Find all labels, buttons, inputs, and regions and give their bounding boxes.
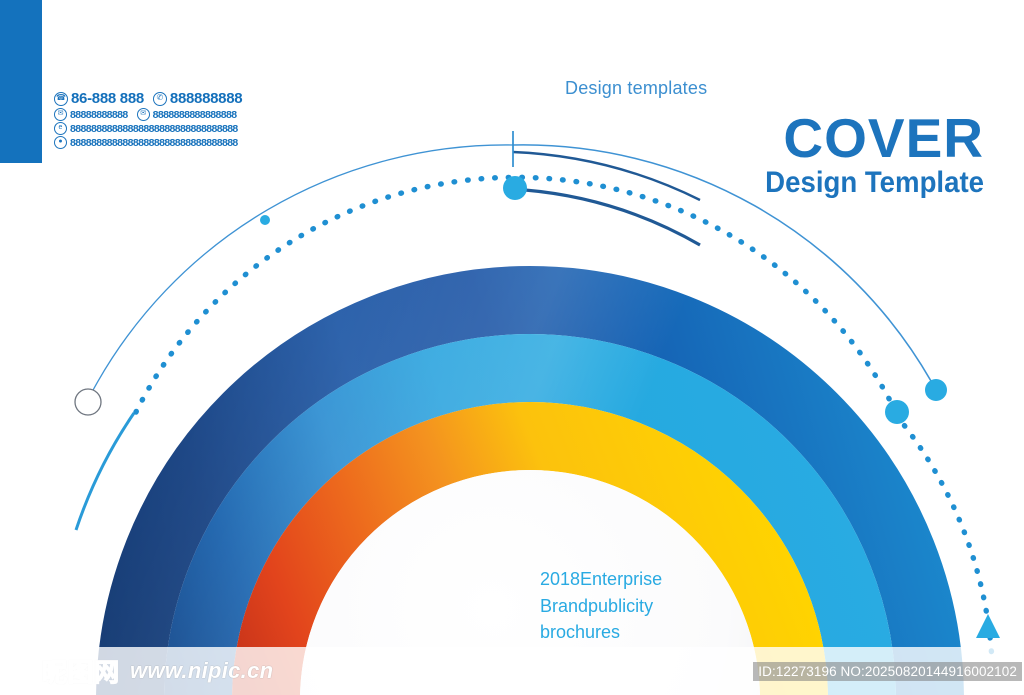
decorative-blue-block [0,0,42,163]
outline-circle-marker [75,389,101,415]
large-dot-marker-left [503,176,527,200]
contact-segment: ✆ 888888888 [153,90,242,107]
contact-row: ✉ 88888888888 ✉ 8888888888888888 [54,108,314,121]
contact-segment: e 88888888888888888888888888888888 [54,122,238,135]
center-copy-block: 2018Enterprise Brandpublicity brochures [540,566,662,646]
page-subtitle: Design templates [565,78,707,99]
location-pin-icon: ● [54,136,67,149]
contact-segment: ☎ 86-888 888 [54,90,144,107]
fax-icon: ✉ [54,108,67,121]
contact-text: 888888888 [170,90,242,107]
mobile-icon: ✆ [153,92,167,106]
contact-text: 88888888888888888888888888888888 [70,123,238,135]
large-dot-marker-mid [885,400,909,424]
large-dot-marker-right [925,379,947,401]
contact-text: 8888888888888888 [153,109,237,121]
thin-blue-arc-left [92,145,513,392]
watermark-cjk-text: 昵图网 [42,653,120,689]
dotted-arc-right-tail [896,415,992,660]
cover-title-block: COVER Design Template [564,112,984,201]
page-title: COVER [564,112,984,164]
contact-row: e 88888888888888888888888888888888 [54,122,314,135]
contact-row: ● 88888888888888888888888888888888 [54,136,314,149]
dotted-arc-path [136,177,896,412]
contact-text: 88888888888888888888888888888888 [70,137,238,149]
contact-text: 86-888 888 [71,90,144,107]
center-copy-line-1: 2018Enterprise [540,566,662,593]
arrow-triangle-marker [976,614,1000,638]
id-badge: ID:12273196 NO:20250820144916002102 [753,662,1022,681]
contact-segment: ✉ 8888888888888888 [137,108,237,121]
contact-segment: ✉ 88888888888 [54,108,128,121]
page-subtitle-large: Design Template [598,166,984,201]
contact-info: ☎ 86-888 888 ✆ 888888888 ✉ 88888888888 ✉… [54,90,314,150]
blue-arc-tail-left [76,413,134,530]
contact-row: ☎ 86-888 888 ✆ 888888888 [54,90,314,107]
web-icon: e [54,122,67,135]
cover-canvas: ☎ 86-888 888 ✆ 888888888 ✉ 88888888888 ✉… [0,0,1024,695]
center-copy-line-3: brochures [540,619,662,646]
phone-icon: ☎ [54,92,68,106]
watermark-url: www.nipic.cn [130,658,273,684]
watermark-logo: 昵图网 www.nipic.cn [42,653,273,689]
mail-icon: ✉ [137,108,150,121]
small-dot-marker [260,215,270,225]
center-copy-line-2: Brandpublicity [540,593,662,620]
contact-text: 88888888888 [70,109,128,121]
contact-segment: ● 88888888888888888888888888888888 [54,136,238,149]
